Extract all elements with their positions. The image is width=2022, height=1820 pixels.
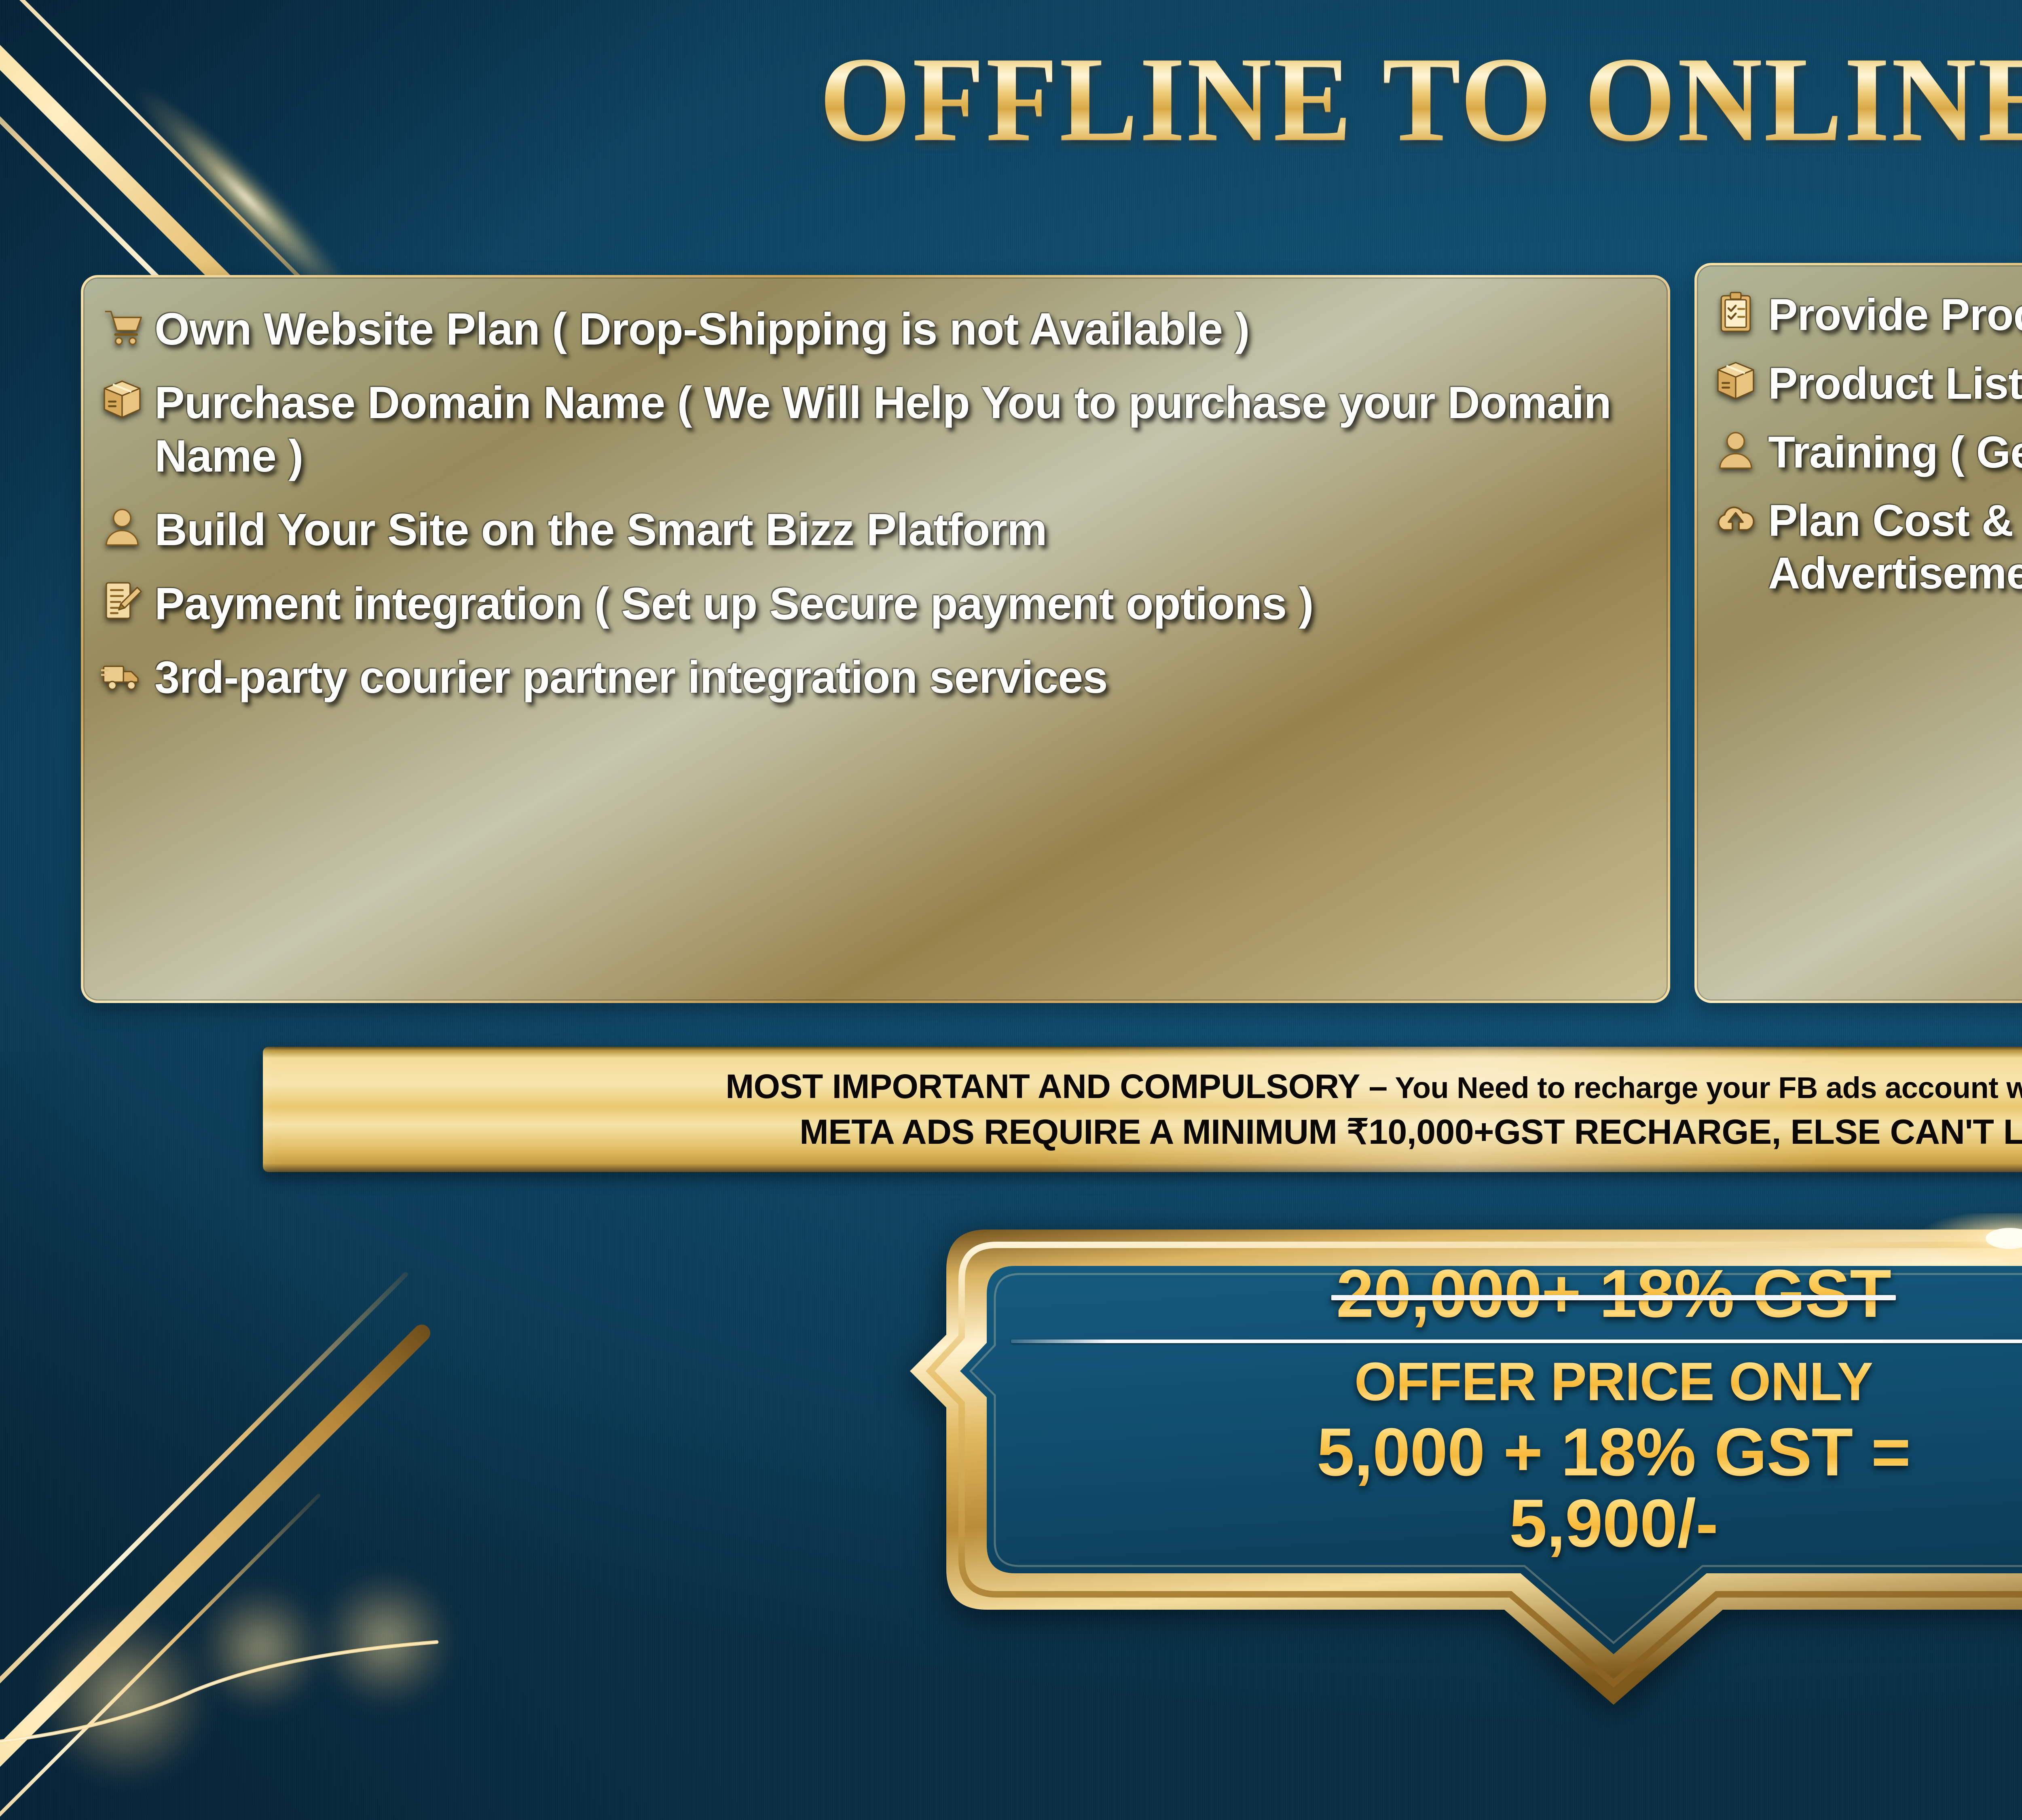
light-orb-glow-1: [40, 1614, 210, 1784]
feature-label: Plan Cost & Ads ( 5,000+ tax ( Plan Fee …: [1768, 495, 2022, 600]
strikethrough-line: [1331, 1295, 1896, 1300]
feature-label: Product Listing ( We will List 20 produc…: [1768, 358, 2022, 410]
feature-list-right: Provide Product Info ( Client provides p…: [1715, 281, 2022, 600]
page-title: OFFLINE TO ONLINE PLAN: [819, 38, 2022, 160]
package-box-icon: [101, 379, 143, 421]
package-box-icon: [1715, 360, 1757, 402]
offer-label: OFFER PRICE ONLY: [1011, 1354, 2022, 1411]
feature-item: Product Listing ( We will List 20 produc…: [1715, 358, 2022, 410]
feature-label: Provide Product Info ( Client provides p…: [1768, 289, 2022, 341]
offer-price-line: 5,000 + 18% GST =: [1011, 1416, 2022, 1488]
feature-label: Training ( Get training for adding more …: [1768, 426, 2022, 479]
feature-item: 3rd-party courier partner integration se…: [101, 651, 1649, 704]
original-price-text: 20,000+ 18% GST: [1336, 1255, 1891, 1331]
delivery-truck-icon: [101, 653, 143, 695]
cloud-upload-icon: [1715, 497, 1757, 539]
shopping-cart-icon: [101, 305, 143, 347]
notice-line-1-strong: MOST IMPORTANT AND COMPULSORY –: [725, 1067, 1387, 1105]
features-card-right: Provide Product Info ( Client provides p…: [1694, 263, 2022, 1003]
important-notice-banner: MOST IMPORTANT AND COMPULSORY – You Need…: [263, 1047, 2022, 1172]
feature-label: 3rd-party courier partner integration se…: [154, 651, 1108, 704]
light-orb-glow-2: [198, 1585, 324, 1711]
feature-label: Own Website Plan ( Drop-Shipping is not …: [154, 303, 1250, 356]
feature-label: Payment integration ( Set up Secure paym…: [154, 577, 1313, 631]
page-title-container: OFFLINE TO ONLINE PLAN: [0, 38, 2022, 160]
feature-item: Plan Cost & Ads ( 5,000+ tax ( Plan Fee …: [1715, 495, 2022, 600]
notice-line-1: MOST IMPORTANT AND COMPULSORY – You Need…: [725, 1067, 2022, 1106]
feature-item: Purchase Domain Name ( We Will Help You …: [101, 376, 1649, 483]
document-pen-icon: [101, 580, 143, 622]
clipboard-checklist-icon: [1715, 291, 1757, 333]
light-orb-glow-3: [319, 1573, 453, 1707]
feature-item: Provide Product Info ( Client provides p…: [1715, 289, 2022, 341]
feature-list-left: Own Website Plan ( Drop-Shipping is not …: [101, 294, 1649, 704]
feature-item: Payment integration ( Set up Secure paym…: [101, 577, 1649, 631]
feature-label: Build Your Site on the Smart Bizz Platfo…: [154, 503, 1047, 557]
features-card-left: Own Website Plan ( Drop-Shipping is not …: [81, 275, 1670, 1003]
corner-line-bl-outer: [0, 1493, 321, 1820]
light-trail-decoration: [0, 1335, 607, 1820]
price-badge: 20,000+ 18% GST OFFER PRICE ONLY 5,000 +…: [894, 1213, 2022, 1715]
light-orb-3: [362, 1616, 412, 1666]
notice-line-1-normal: You Need to recharge your FB ads account…: [1387, 1071, 2022, 1105]
original-price: 20,000+ 18% GST: [1336, 1258, 1891, 1329]
feature-item: Own Website Plan ( Drop-Shipping is not …: [101, 303, 1649, 356]
light-orb-1: [92, 1666, 159, 1732]
user-person-icon: [1715, 429, 1757, 471]
feature-label: Purchase Domain Name ( We Will Help You …: [154, 376, 1649, 483]
light-orb-2: [238, 1625, 285, 1672]
price-content: 20,000+ 18% GST OFFER PRICE ONLY 5,000 +…: [1011, 1258, 2022, 1559]
promo-poster: OFFLINE TO ONLINE PLAN Own Website Plan …: [0, 0, 2022, 1820]
feature-item: Training ( Get training for adding more …: [1715, 426, 2022, 479]
feature-item: Build Your Site on the Smart Bizz Platfo…: [101, 503, 1649, 557]
price-divider: [1011, 1340, 2022, 1343]
notice-line-2: META ADS REQUIRE A MINIMUM ₹10,000+GST R…: [799, 1112, 2022, 1152]
corner-line-bl-main: [0, 1321, 434, 1820]
corner-line-bl-inner: [0, 1271, 409, 1820]
offer-total: 5,900/-: [1011, 1488, 2022, 1559]
user-person-icon: [101, 506, 143, 548]
